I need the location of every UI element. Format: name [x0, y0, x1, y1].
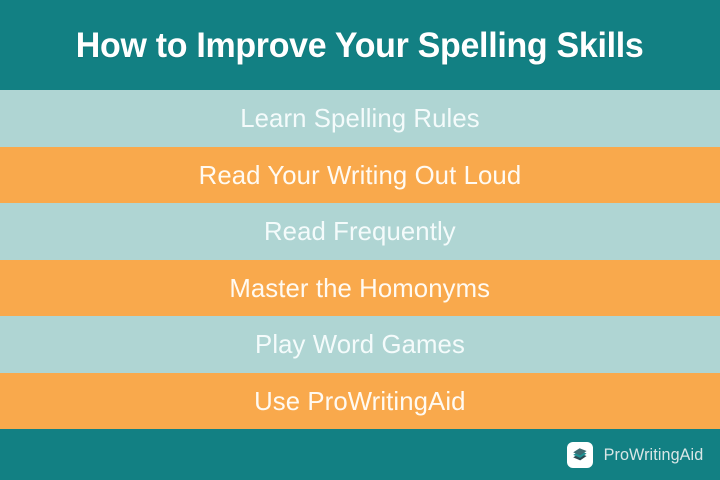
footer-bar: ProWritingAid	[0, 429, 720, 480]
list-item: Learn Spelling Rules	[0, 90, 720, 147]
tip-label: Read Frequently	[264, 218, 456, 244]
tips-list: Learn Spelling Rules Read Your Writing O…	[0, 90, 720, 429]
header-banner: How to Improve Your Spelling Skills	[0, 0, 720, 90]
list-item: Play Word Games	[0, 316, 720, 373]
list-item: Use ProWritingAid	[0, 373, 720, 430]
brand-name: ProWritingAid	[604, 446, 704, 463]
tip-label: Use ProWritingAid	[254, 388, 465, 414]
list-item: Master the Homonyms	[0, 260, 720, 317]
stacked-books-icon	[567, 442, 593, 468]
tip-label: Learn Spelling Rules	[240, 105, 480, 131]
tip-label: Master the Homonyms	[230, 275, 491, 301]
brand-logo: ProWritingAid	[567, 442, 706, 468]
list-item: Read Your Writing Out Loud	[0, 147, 720, 204]
tip-label: Read Your Writing Out Loud	[199, 162, 522, 188]
tip-label: Play Word Games	[255, 331, 465, 357]
infographic-root: How to Improve Your Spelling Skills Lear…	[0, 0, 720, 480]
page-title: How to Improve Your Spelling Skills	[76, 28, 644, 63]
list-item: Read Frequently	[0, 203, 720, 260]
